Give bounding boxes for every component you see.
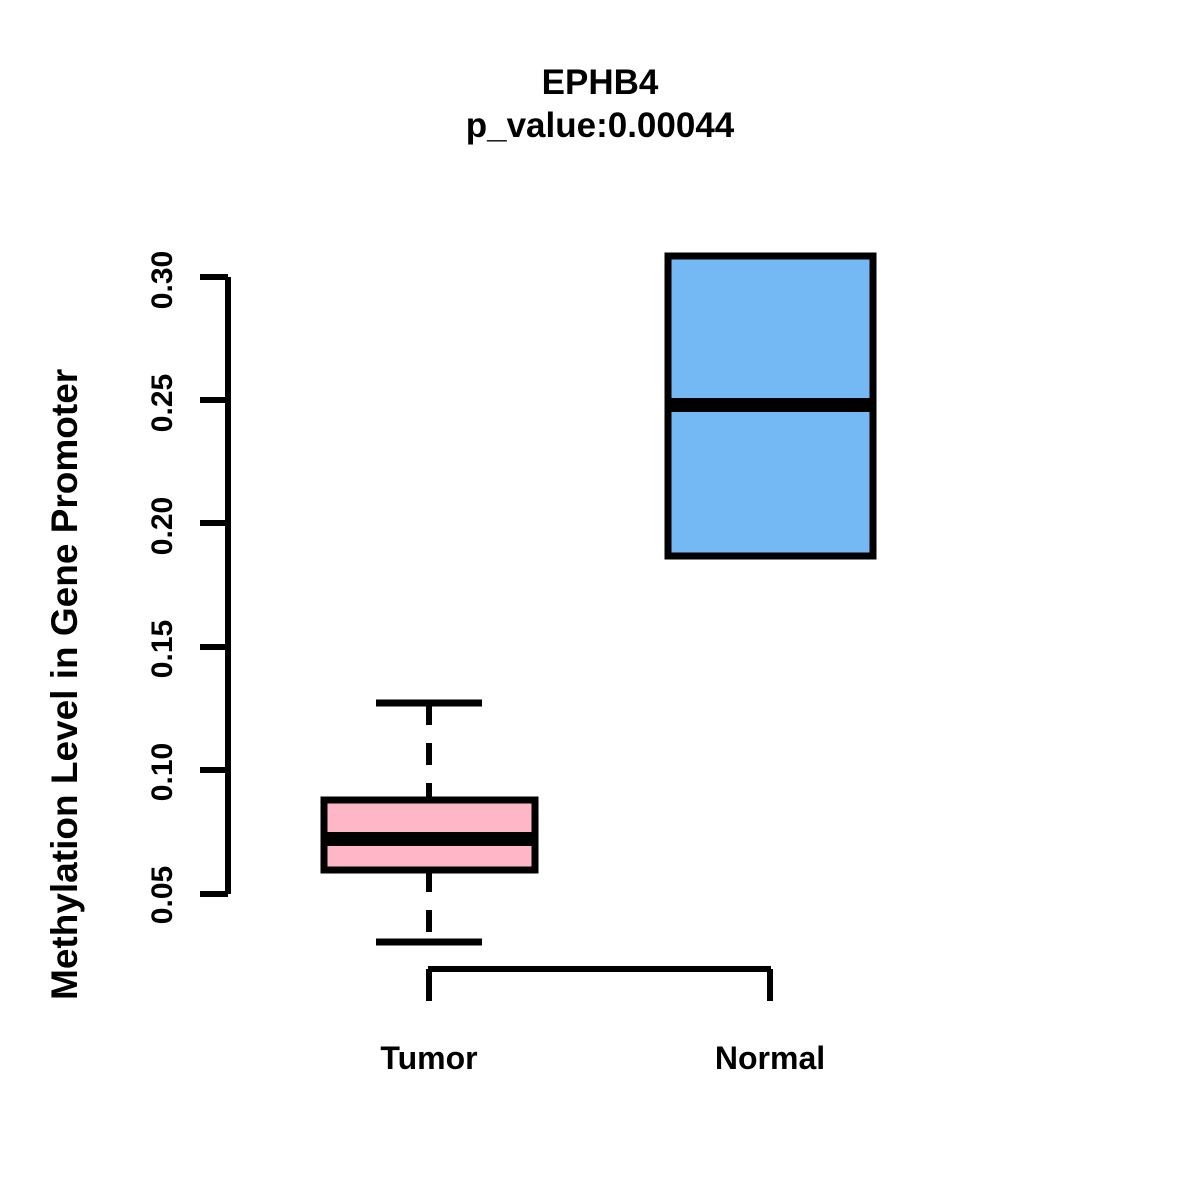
box-tumor <box>324 703 535 942</box>
box-normal <box>668 256 873 556</box>
y-axis <box>200 277 228 894</box>
boxplot-figure: EPHB4 p_value:0.00044 Methylation Level … <box>0 0 1200 1200</box>
plot-canvas <box>0 0 1200 1200</box>
x-axis <box>428 969 771 1001</box>
